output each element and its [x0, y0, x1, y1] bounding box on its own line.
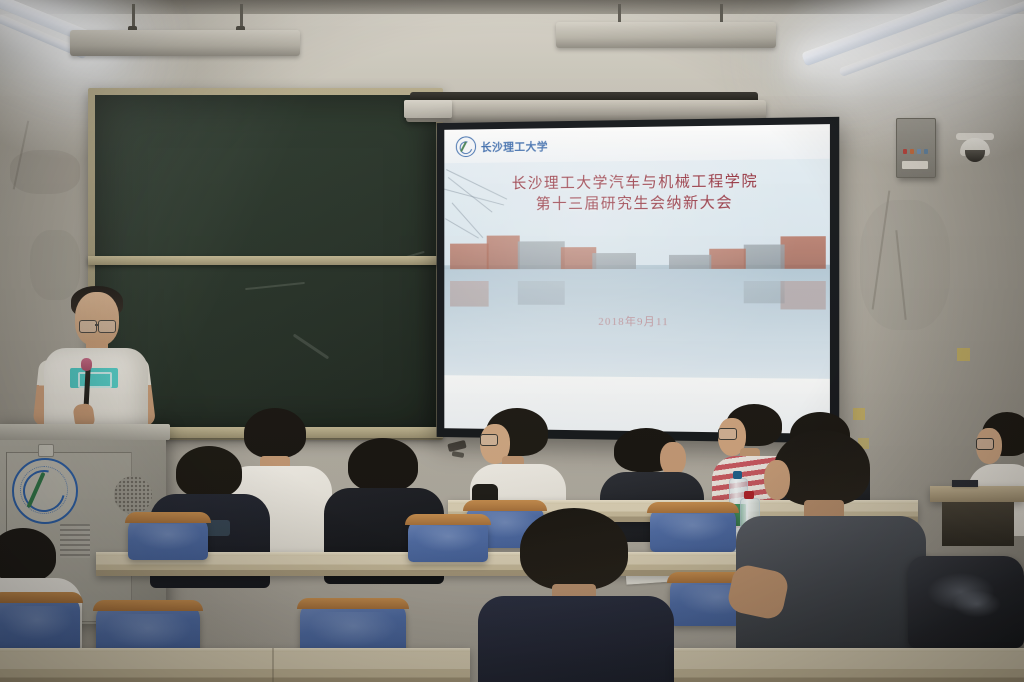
person-face: [764, 460, 790, 500]
university-seal-icon: [456, 136, 476, 157]
photo-reflection: [518, 281, 565, 305]
photo-reflection: [781, 281, 826, 310]
chair-trim: [647, 502, 739, 513]
wall-tape-patch: [957, 348, 970, 361]
hanging-fixture-left: [70, 30, 300, 56]
panel-label: [902, 161, 928, 169]
chair: [408, 518, 488, 562]
hanging-fixture-right: [556, 22, 776, 48]
desk-front-row: [0, 648, 470, 682]
chair-worn-area: [104, 614, 191, 649]
presenter-glasses-icon: [79, 320, 97, 333]
wall-tape-patch: [853, 408, 865, 420]
chair-worn-area: [657, 514, 729, 542]
slide-title-line-2: 第十三届研究生会纳新大会: [444, 193, 830, 217]
chair-trim: [405, 514, 491, 525]
person-glasses-icon: [480, 434, 498, 446]
person-torso: [478, 596, 674, 682]
desk-seam: [272, 648, 274, 682]
university-logo-text: 长沙理工大学: [481, 138, 548, 155]
chair-trim: [125, 512, 211, 523]
university-emblem: [12, 458, 78, 524]
emblem-ring: [20, 466, 68, 514]
chair: [650, 506, 736, 552]
chair-trim: [463, 500, 547, 511]
panel-led: [910, 149, 914, 154]
chair-trim: [93, 600, 203, 611]
presenter-head: [75, 292, 119, 346]
projection-screen-surface: 长沙理工大学: [444, 124, 830, 434]
presenter-glasses-icon: [98, 320, 116, 333]
desk-edge: [0, 648, 470, 652]
panel-led: [924, 149, 928, 154]
wall-scuff: [30, 230, 80, 300]
panel-led: [903, 149, 907, 154]
backpack-print: [952, 590, 1002, 618]
notebook-on-side-table: [952, 480, 978, 487]
person-hair: [0, 528, 56, 582]
chair-trim: [297, 598, 409, 609]
speaker-grille-icon: [114, 476, 152, 514]
photo-reflection: [744, 281, 785, 303]
side-table: [930, 486, 1024, 502]
slide-logo: 长沙理工大学: [456, 135, 548, 157]
slide-date: 2018年9月11: [444, 312, 830, 330]
bottle-cap-icon: [744, 491, 754, 499]
lectern-lock-icon: [38, 444, 54, 457]
side-table-shelf: [942, 502, 1014, 546]
chair-trim: [0, 592, 83, 603]
person-glasses-icon: [718, 428, 737, 440]
desk-front-row-right: [674, 648, 1024, 682]
panel-led: [917, 149, 921, 154]
chair-worn-area: [308, 612, 397, 647]
person-hair: [176, 446, 242, 498]
microphone-head-icon: [81, 358, 92, 371]
slide-title-line-1: 长沙理工大学汽车与机械工程学院: [444, 171, 830, 196]
person-glasses-icon: [976, 438, 994, 450]
classroom-photo: 长沙理工大学: [0, 0, 1024, 682]
chair-worn-area: [1, 606, 73, 640]
chair-worn-area: [134, 524, 201, 550]
person-hair: [520, 508, 628, 590]
slide-header: 长沙理工大学: [444, 124, 830, 164]
chair: [0, 596, 80, 652]
presenter-shirt-graphic: [70, 368, 118, 388]
photo-reflection: [450, 281, 489, 307]
projection-screen: 长沙理工大学: [437, 117, 840, 443]
bottle-cap-icon: [733, 471, 742, 479]
chair: [128, 516, 208, 560]
backpack: [908, 556, 1024, 648]
chalkboard-divider-rail: [88, 256, 443, 265]
person-hair: [348, 438, 418, 492]
presenter-glasses-bridge: [95, 324, 99, 326]
chair-worn-area: [414, 526, 481, 552]
presentation-slide: 长沙理工大学: [444, 124, 830, 434]
person-face: [660, 442, 686, 476]
control-panel[interactable]: [896, 118, 936, 178]
lectern-top: [0, 424, 170, 440]
ceiling-projector: [404, 100, 452, 118]
person-hair: [244, 408, 306, 458]
desk-edge: [674, 648, 1024, 652]
slide-title: 长沙理工大学汽车与机械工程学院 第十三届研究生会纳新大会: [444, 171, 830, 217]
lectern-vent: [60, 524, 90, 558]
